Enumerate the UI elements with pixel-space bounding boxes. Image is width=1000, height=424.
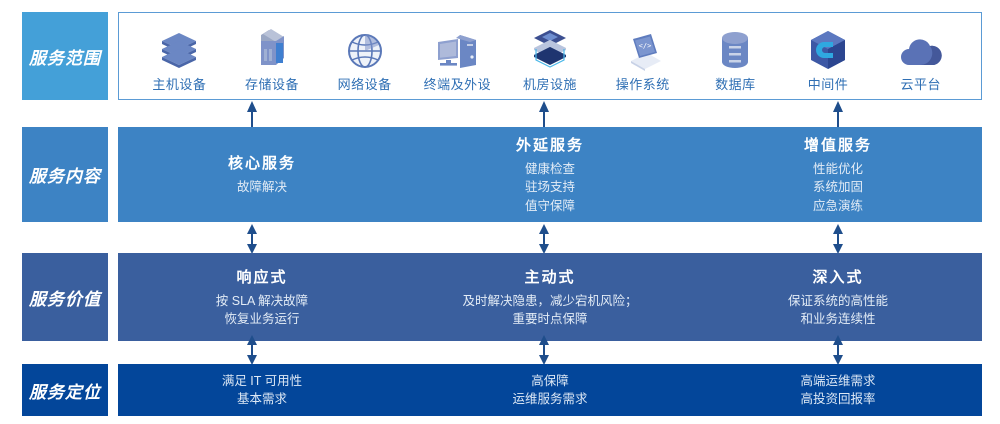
service-hierarchy-diagram: 服务范围 主机设备 bbox=[0, 0, 1000, 424]
cell-line: 系统加固 bbox=[813, 178, 863, 196]
value-cell-responsive[interactable]: 响应式 按 SLA 解决故障 恢复业务运行 bbox=[118, 253, 406, 341]
cell-line: 按 SLA 解决故障 bbox=[216, 292, 308, 310]
storage-array-icon bbox=[251, 27, 293, 71]
scope-item-label: 数据库 bbox=[715, 74, 756, 93]
cell-lines: 及时解决隐患，减少宕机风险； 重要时点保障 bbox=[462, 292, 637, 328]
cell-lines: 性能优化 系统加固 应急演练 bbox=[813, 160, 863, 214]
cell-line: 值守保障 bbox=[525, 197, 575, 215]
cell-title: 深入式 bbox=[812, 266, 863, 287]
cell-line: 满足 IT 可用性 bbox=[222, 372, 302, 390]
scope-item-cloud[interactable]: 云平台 bbox=[874, 27, 967, 93]
content-cell-value-added-service[interactable]: 增值服务 性能优化 系统加固 应急演练 bbox=[694, 127, 982, 222]
scope-item-label: 云平台 bbox=[900, 74, 941, 93]
positioning-cell-premium[interactable]: 高端运维需求 高投资回报率 bbox=[694, 364, 982, 416]
cell-line: 恢复业务运行 bbox=[216, 310, 308, 328]
value-cell-proactive[interactable]: 主动式 及时解决隐患，减少宕机风险； 重要时点保障 bbox=[406, 253, 694, 341]
cell-line: 应急演练 bbox=[813, 197, 863, 215]
cell-line: 健康检查 bbox=[525, 160, 575, 178]
cell-line: 保证系统的高性能 bbox=[788, 292, 888, 310]
cube-middleware-icon bbox=[807, 27, 849, 71]
cloud-icon bbox=[898, 27, 944, 71]
cell-lines: 健康检查 驻场支持 值守保障 bbox=[525, 160, 575, 214]
cell-line: 和业务连续性 bbox=[788, 310, 888, 328]
row-label-text: 服务范围 bbox=[29, 44, 101, 69]
scope-items-container: 主机设备 存储设备 bbox=[119, 13, 981, 99]
cell-title: 增值服务 bbox=[804, 134, 872, 155]
row-label-service-scope: 服务范围 bbox=[22, 12, 108, 100]
cell-line: 高投资回报率 bbox=[800, 390, 875, 408]
cell-line: 高保障 bbox=[512, 372, 587, 390]
connector-arrow-both-4 bbox=[245, 335, 259, 365]
cell-lines: 高保障 运维服务需求 bbox=[512, 372, 587, 408]
laptop-code-icon: </> bbox=[621, 27, 665, 71]
row-label-text: 服务定位 bbox=[29, 378, 101, 403]
positioning-cell-assured[interactable]: 高保障 运维服务需求 bbox=[406, 364, 694, 416]
scope-item-os[interactable]: </> 操作系统 bbox=[596, 27, 689, 93]
scope-item-label: 终端及外设 bbox=[424, 74, 492, 93]
scope-item-host[interactable]: 主机设备 bbox=[133, 27, 226, 93]
cell-lines: 故障解决 bbox=[237, 178, 287, 196]
scope-item-label: 存储设备 bbox=[245, 74, 299, 93]
desktop-pc-icon bbox=[434, 27, 480, 71]
connector-arrow-up-1 bbox=[245, 101, 259, 127]
scope-item-datacenter[interactable]: 机房设施 bbox=[504, 27, 597, 93]
globe-network-icon bbox=[345, 27, 385, 71]
cell-lines: 按 SLA 解决故障 恢复业务运行 bbox=[216, 292, 308, 328]
row-label-text: 服务内容 bbox=[29, 162, 101, 187]
cell-lines: 满足 IT 可用性 基本需求 bbox=[222, 372, 302, 408]
scope-item-network[interactable]: 网络设备 bbox=[318, 27, 411, 93]
cell-line: 及时解决隐患，减少宕机风险； bbox=[462, 292, 637, 310]
cell-line: 驻场支持 bbox=[525, 178, 575, 196]
datacenter-rack-icon bbox=[528, 27, 572, 71]
scope-item-terminal[interactable]: 终端及外设 bbox=[411, 27, 504, 93]
scope-item-label: 网络设备 bbox=[338, 74, 392, 93]
database-cylinder-icon bbox=[716, 27, 754, 71]
connector-arrow-both-5 bbox=[537, 335, 551, 365]
row-panel-service-positioning: 满足 IT 可用性 基本需求 高保障 运维服务需求 高端运维需求 高投资回报率 bbox=[118, 364, 982, 416]
cell-line: 重要时点保障 bbox=[462, 310, 637, 328]
row-label-service-positioning: 服务定位 bbox=[22, 364, 108, 416]
content-cell-extended-service[interactable]: 外延服务 健康检查 驻场支持 值守保障 bbox=[406, 127, 694, 222]
cell-title: 外延服务 bbox=[516, 134, 584, 155]
row-panel-service-scope: 主机设备 存储设备 bbox=[118, 12, 982, 100]
connector-arrow-up-3 bbox=[831, 101, 845, 127]
scope-item-database[interactable]: 数据库 bbox=[689, 27, 782, 93]
connector-arrow-both-6 bbox=[831, 335, 845, 365]
value-cells-container: 响应式 按 SLA 解决故障 恢复业务运行 主动式 及时解决隐患，减少宕机风险；… bbox=[118, 253, 982, 341]
content-cell-core-service[interactable]: 核心服务 故障解决 bbox=[118, 127, 406, 222]
cell-line: 基本需求 bbox=[222, 390, 302, 408]
content-cells-container: 核心服务 故障解决 外延服务 健康检查 驻场支持 值守保障 增值服务 性能优化 … bbox=[118, 127, 982, 222]
scope-item-label: 操作系统 bbox=[616, 74, 670, 93]
cell-title: 主动式 bbox=[524, 266, 575, 287]
cell-title: 响应式 bbox=[236, 266, 287, 287]
cell-title: 核心服务 bbox=[228, 152, 296, 173]
positioning-cell-basic[interactable]: 满足 IT 可用性 基本需求 bbox=[118, 364, 406, 416]
scope-item-middleware[interactable]: 中间件 bbox=[782, 27, 875, 93]
scope-item-label: 机房设施 bbox=[523, 74, 577, 93]
scope-item-storage[interactable]: 存储设备 bbox=[226, 27, 319, 93]
positioning-cells-container: 满足 IT 可用性 基本需求 高保障 运维服务需求 高端运维需求 高投资回报率 bbox=[118, 364, 982, 416]
row-label-service-content: 服务内容 bbox=[22, 127, 108, 222]
connector-arrow-both-2 bbox=[537, 224, 551, 254]
connector-arrow-both-1 bbox=[245, 224, 259, 254]
cell-line: 运维服务需求 bbox=[512, 390, 587, 408]
scope-item-label: 中间件 bbox=[808, 74, 849, 93]
cell-lines: 高端运维需求 高投资回报率 bbox=[800, 372, 875, 408]
value-cell-indepth[interactable]: 深入式 保证系统的高性能 和业务连续性 bbox=[694, 253, 982, 341]
row-panel-service-value: 响应式 按 SLA 解决故障 恢复业务运行 主动式 及时解决隐患，减少宕机风险；… bbox=[118, 253, 982, 341]
cell-lines: 保证系统的高性能 和业务连续性 bbox=[788, 292, 888, 328]
server-stack-icon bbox=[159, 27, 199, 71]
svg-text:</>: </> bbox=[638, 42, 651, 50]
row-label-service-value: 服务价值 bbox=[22, 253, 108, 341]
cell-line: 性能优化 bbox=[813, 160, 863, 178]
row-label-text: 服务价值 bbox=[29, 285, 101, 310]
connector-arrow-both-3 bbox=[831, 224, 845, 254]
connector-arrow-up-2 bbox=[537, 101, 551, 127]
cell-line: 故障解决 bbox=[237, 178, 287, 196]
cell-line: 高端运维需求 bbox=[800, 372, 875, 390]
scope-item-label: 主机设备 bbox=[152, 74, 206, 93]
row-panel-service-content: 核心服务 故障解决 外延服务 健康检查 驻场支持 值守保障 增值服务 性能优化 … bbox=[118, 127, 982, 222]
